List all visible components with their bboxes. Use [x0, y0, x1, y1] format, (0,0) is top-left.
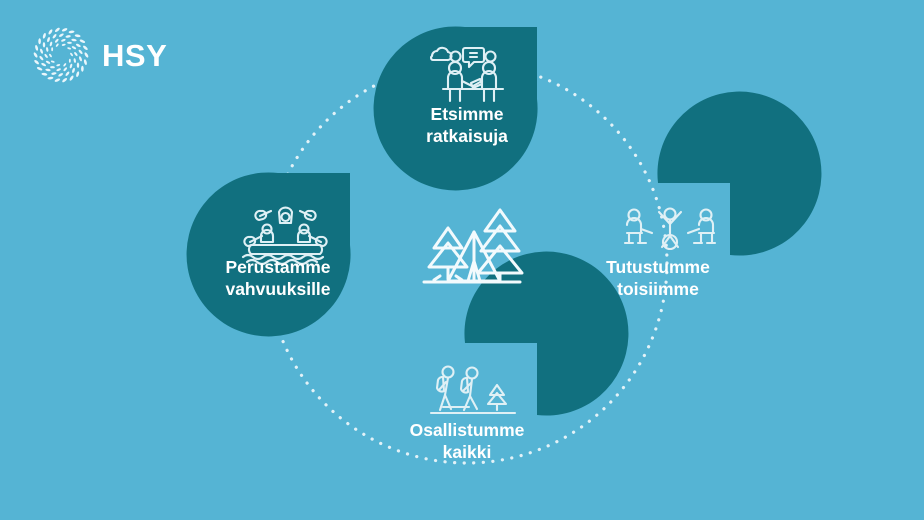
teardrop-shape-right [657, 92, 821, 256]
three-people-celebrating-icon [625, 209, 715, 250]
cycle-node-top[interactable] [374, 26, 538, 190]
slide-canvas: HSY [0, 0, 924, 520]
cycle-node-left[interactable] [187, 172, 351, 336]
teardrop-shape-bottom [464, 252, 628, 416]
cycle-node-right[interactable] [625, 92, 821, 256]
cycle-node-bottom[interactable] [431, 252, 628, 416]
two-hikers-walking-icon [431, 367, 515, 414]
culture-cycle-diagram [0, 0, 924, 520]
